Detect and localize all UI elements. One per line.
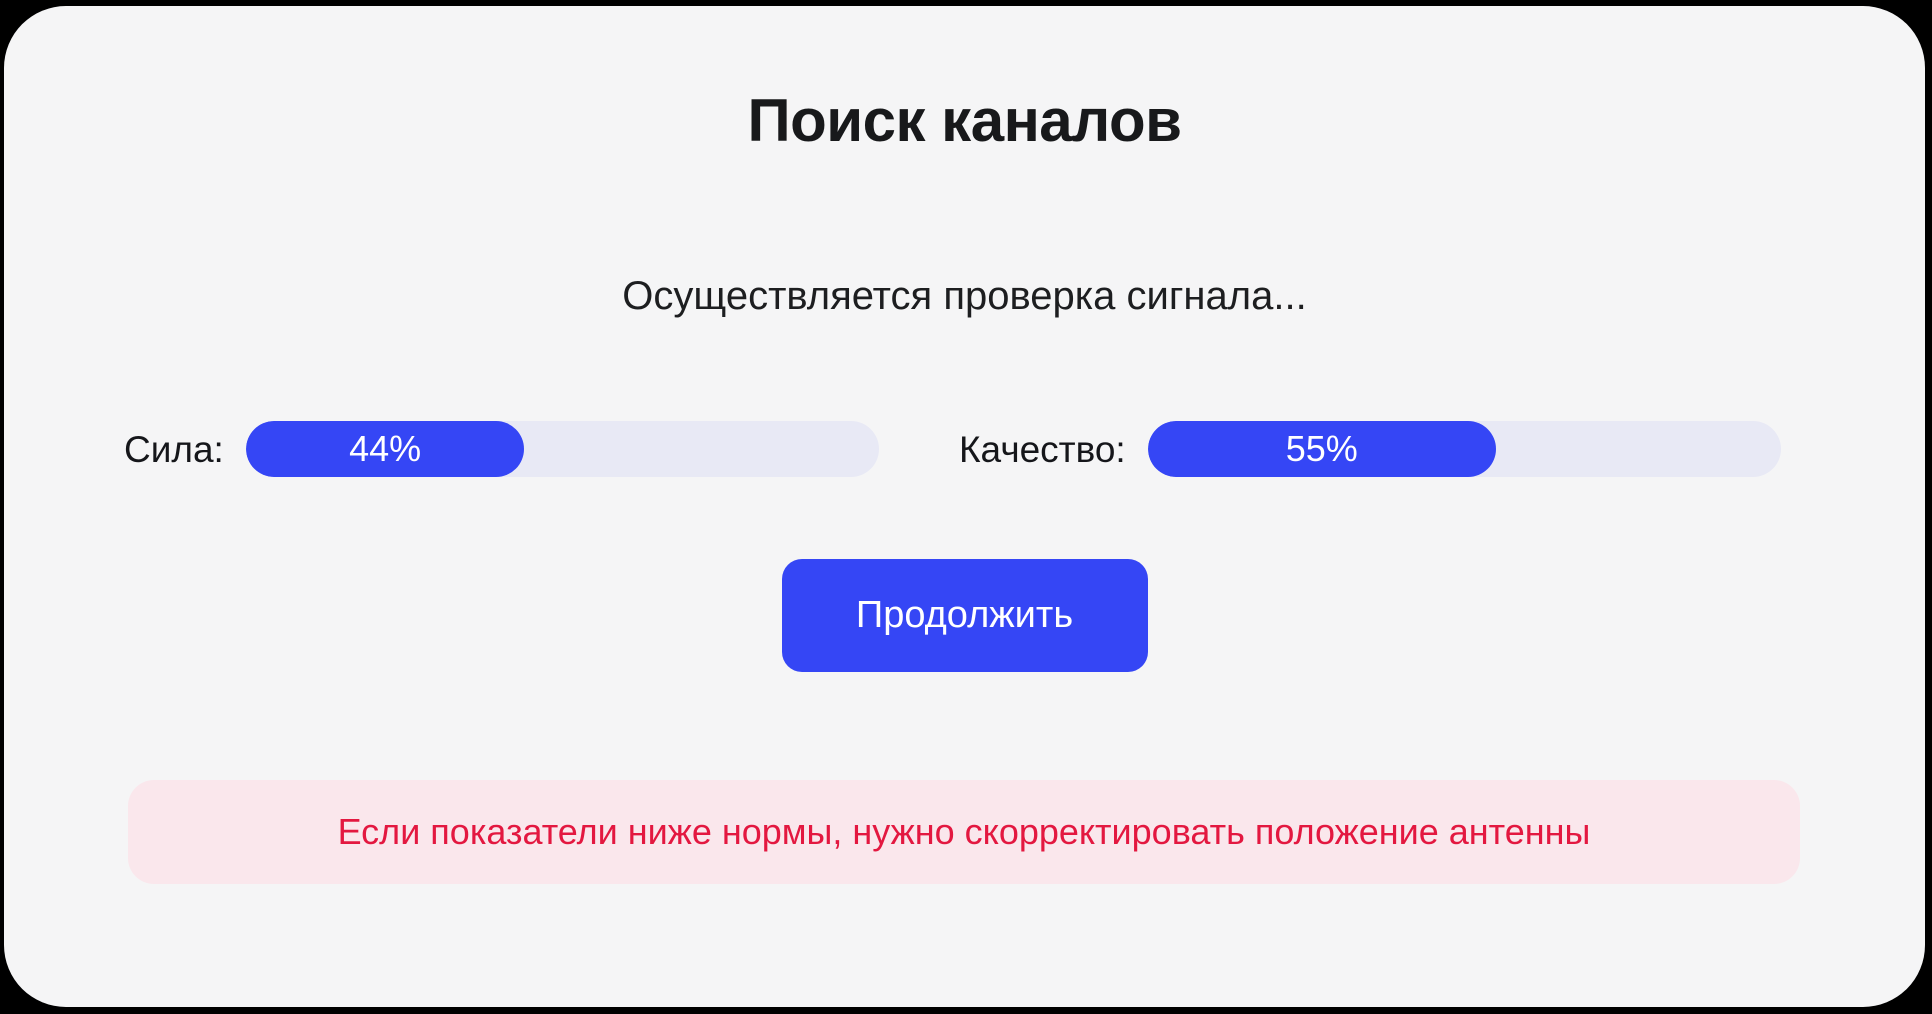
signal-strength-track: 44% (246, 421, 879, 477)
warning-message: Если показатели ниже нормы, нужно скорре… (338, 811, 1591, 852)
signal-quality-fill: 55% (1148, 421, 1496, 477)
signal-quality-meter: Качество: 55% (959, 418, 1781, 480)
signal-quality-value: 55% (1286, 431, 1358, 467)
signal-quality-label: Качество: (959, 431, 1126, 468)
signal-check-card: Поиск каналов Осуществляется проверка си… (4, 6, 1925, 1007)
signal-strength-meter: Сила: 44% (124, 418, 879, 480)
signal-meters: Сила: 44% Качество: 55% (4, 418, 1925, 480)
status-message: Осуществляется проверка сигнала... (4, 274, 1925, 318)
signal-strength-label: Сила: (124, 431, 224, 468)
signal-quality-track: 55% (1148, 421, 1781, 477)
continue-button[interactable]: Продолжить (782, 559, 1148, 672)
signal-strength-fill: 44% (246, 421, 525, 477)
screen: Поиск каналов Осуществляется проверка си… (0, 0, 1932, 1014)
signal-strength-value: 44% (349, 431, 421, 467)
page-title: Поиск каналов (4, 88, 1925, 154)
warning-banner: Если показатели ниже нормы, нужно скорре… (128, 780, 1800, 884)
